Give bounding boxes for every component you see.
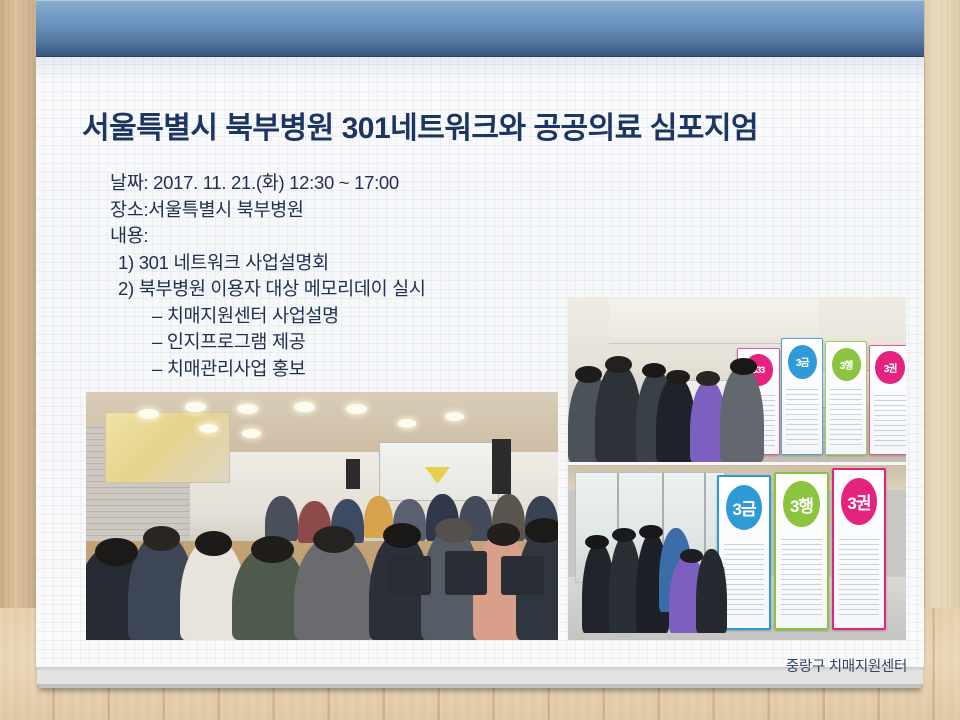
rollup-cap-3haeng: 3행 — [832, 348, 861, 382]
visitor-head — [680, 549, 704, 563]
page-title: 서울특별시 북부병원 301네트워크와 공공의료 심포지엄 — [82, 103, 912, 147]
attendee-head — [195, 531, 233, 556]
body-line-contents: 내용: — [110, 223, 580, 250]
rollup-banner-3haeng: 3행 — [825, 341, 868, 455]
hall-stage-banner — [105, 412, 230, 483]
visitor-head — [639, 525, 663, 539]
photo-seminar-hall — [86, 392, 558, 640]
ceiling-downlight — [445, 412, 464, 421]
visitor-head — [585, 535, 609, 549]
rollup-body-lines — [724, 540, 765, 615]
photo-hospital-lobby: 3금 3행 3권 — [568, 465, 906, 640]
attendee-head — [487, 523, 520, 545]
attendee-head — [251, 536, 293, 563]
rollup-body-lines — [874, 391, 906, 445]
visitor-head — [642, 363, 666, 378]
chair — [388, 556, 430, 596]
attendee-head — [525, 518, 558, 543]
rollup-body-lines — [781, 538, 822, 615]
visitor-head — [666, 370, 690, 385]
hall-speaker-left — [346, 459, 360, 489]
visitor-head — [730, 358, 757, 375]
ceiling-downlight — [199, 424, 218, 433]
lobby-rollup-3haeng: 3행 — [774, 472, 829, 630]
hall-projection-screen — [379, 442, 499, 501]
ceiling-downlight — [398, 419, 417, 428]
rollup-cap-3haeng: 3행 — [783, 481, 819, 527]
body-line-date: 날짜: 2017. 11. 21.(화) 12:30 ~ 17:00 — [110, 170, 580, 197]
lobby-rollup-3gwon: 3권 — [832, 468, 887, 630]
rollup-banner-3gwon: 3권 — [869, 345, 906, 456]
rollup-cap-3geum: 3금 — [788, 345, 817, 380]
body-line-sub-1: – 치매지원센터 사업설명 — [110, 303, 580, 330]
visitor-head — [605, 356, 632, 373]
body-line-item-1: 1) 301 네트워크 사업설명회 — [110, 250, 580, 277]
rollup-cap-3gwon: 3권 — [875, 351, 904, 384]
visitor-head — [612, 528, 636, 542]
body-line-sub-3: – 치매관리사업 홍보 — [110, 356, 580, 383]
photo-memory-day-booth: 333 3금 3행 3권 — [568, 297, 906, 462]
attendee-head — [143, 526, 181, 551]
rollup-body-lines — [839, 536, 880, 615]
slide-header-band — [36, 0, 924, 58]
ceiling-downlight — [242, 429, 261, 438]
rollup-cap-3gwon: 3권 — [841, 478, 877, 525]
body-line-sub-2: – 인지프로그램 제공 — [110, 329, 580, 356]
attendee-head — [313, 526, 355, 553]
rollup-body-lines — [830, 389, 862, 445]
rollup-banner-3geum: 3금 — [781, 338, 824, 456]
body-text-block: 날짜: 2017. 11. 21.(화) 12:30 ~ 17:00 장소:서울… — [110, 170, 580, 382]
visitor-head — [575, 366, 602, 383]
body-line-venue: 장소:서울특별시 북부병원 — [110, 197, 580, 224]
rollup-body-lines — [786, 387, 818, 445]
presentation-slide: 서울특별시 북부병원 301네트워크와 공공의료 심포지엄 날짜: 2017. … — [0, 0, 960, 720]
ceiling-downlight — [294, 402, 315, 412]
attendee-head — [95, 538, 137, 565]
body-line-item-2: 2) 북부병원 이용자 대상 메모리데이 실시 — [110, 276, 580, 303]
rollup-cap-3geum: 3금 — [726, 485, 762, 530]
hall-speaker-right — [492, 439, 511, 494]
chair — [501, 556, 543, 596]
slide-footer: 중랑구 치매지원센터 — [786, 655, 907, 676]
chair — [445, 551, 487, 596]
ceiling-downlight — [185, 402, 206, 412]
